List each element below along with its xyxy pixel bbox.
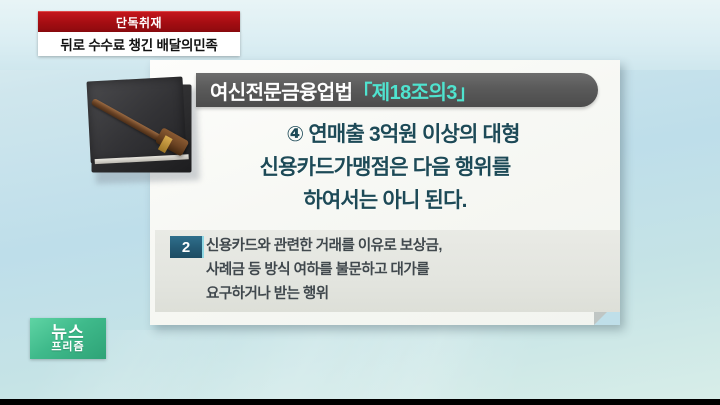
subclause-number: 2 bbox=[182, 239, 190, 256]
program-logo-line1: 뉴스 bbox=[51, 324, 84, 341]
background-streak bbox=[312, 320, 548, 405]
law-name: 여신전문금융업법 bbox=[210, 82, 352, 104]
letterbox-bar bbox=[0, 399, 720, 405]
clause-line: 하여서는 아니 된다. bbox=[150, 184, 620, 217]
headline-title: 뒤로 수수료 챙긴 배달의민족 bbox=[60, 34, 217, 54]
subclause-number-badge: 2 bbox=[170, 236, 204, 258]
subclause-line: 사례금 등 방식 여하를 불문하고 대가를 bbox=[206, 258, 606, 282]
subclause-line: 신용카드와 관련한 거래를 이유로 보상금, bbox=[206, 234, 606, 258]
headline-banner: 단독취재 뒤로 수수료 챙긴 배달의민족 bbox=[38, 11, 240, 56]
broadcast-screen: 단독취재 뒤로 수수료 챙긴 배달의민족 여신전문금융업법「제18조의3」 ④ … bbox=[0, 0, 720, 405]
program-logo-line2: 프리즘 bbox=[51, 341, 84, 354]
headline-title-bar: 뒤로 수수료 챙긴 배달의민족 bbox=[38, 32, 240, 56]
exclusive-badge: 단독취재 bbox=[38, 11, 240, 32]
law-clause-text: ④ 연매출 3억원 이상의 대형 신용카드가맹점은 다음 행위를 하여서는 아니… bbox=[150, 118, 620, 217]
clause-line: ④ 연매출 3억원 이상의 대형 bbox=[150, 118, 620, 151]
law-header-bar: 여신전문금융업법「제18조의3」 bbox=[196, 73, 598, 107]
exclusive-badge-label: 단독취재 bbox=[116, 14, 162, 31]
program-logo: 뉴스 프리즘 bbox=[30, 318, 106, 359]
clause-line: 신용카드가맹점은 다음 행위를 bbox=[150, 151, 620, 184]
law-header-text: 여신전문금융업법「제18조의3」 bbox=[210, 76, 476, 105]
subclause-text: 신용카드와 관련한 거래를 이유로 보상금, 사례금 등 방식 여하를 불문하고… bbox=[206, 234, 606, 306]
law-article: 「제18조의3」 bbox=[352, 82, 476, 104]
subclause-line: 요구하거나 받는 행위 bbox=[206, 282, 606, 306]
